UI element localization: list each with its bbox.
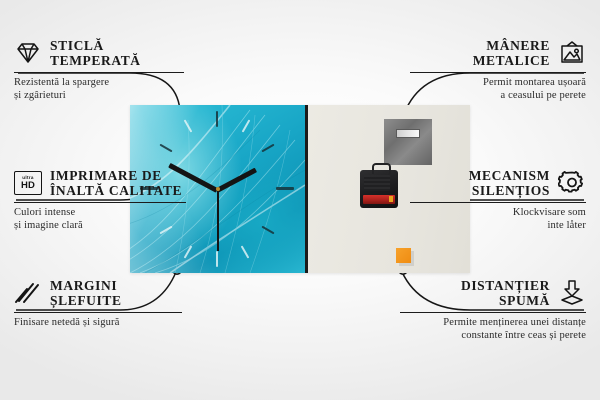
- callout-header: MARGINI ȘLEFUITE: [14, 278, 182, 308]
- callout-foam-spacer: DISTANȚIER SPUMĂ Permite menținerea unei…: [400, 278, 586, 342]
- callout-header: ultra HD IMPRIMARE DE ÎNALTĂ CALITATE: [14, 168, 186, 198]
- ultra-hd-icon-main-label: HD: [21, 181, 35, 191]
- callout-header: STICLĂ TEMPERATĂ: [14, 38, 184, 68]
- second-hand: [217, 189, 219, 251]
- callout-divider: [14, 202, 186, 203]
- callout-polished-edges: MARGINI ȘLEFUITE Finisare netedă și sigu…: [14, 278, 182, 330]
- tick-6: [216, 251, 218, 267]
- metal-hanger-plate: [384, 119, 432, 165]
- callout-divider: [14, 72, 184, 73]
- clock-mechanism: [360, 170, 398, 208]
- callout-header: MÂNERE METALICE: [410, 38, 586, 68]
- callout-silent-mechanism: MECANISM SILENȚIOS Klockvisare som inte …: [410, 168, 586, 232]
- battery-terminal: [389, 196, 393, 202]
- callout-divider: [410, 72, 586, 73]
- callout-divider: [410, 202, 586, 203]
- callout-sub-line1: Permit montarea ușoară: [410, 77, 586, 90]
- callout-divider: [14, 312, 182, 313]
- callout-header: MECANISM SILENȚIOS: [410, 168, 586, 198]
- gear-icon: [558, 170, 586, 196]
- callout-sub-line2: și zgârieturi: [14, 90, 184, 103]
- callout-sub-line2: a ceasului pe perete: [410, 90, 586, 103]
- callout-title-line2: SPUMĂ: [461, 293, 550, 308]
- callout-metal-handles: MÂNERE METALICE Permit montarea ușoară a…: [410, 38, 586, 102]
- tick-12: [216, 111, 218, 127]
- callout-title-line1: MÂNERE: [473, 38, 550, 53]
- callout-title-line2: ÎNALTĂ CALITATE: [50, 183, 182, 198]
- mechanism-body-detail: [364, 175, 390, 191]
- callout-title-line2: METALICE: [473, 53, 550, 68]
- callout-divider: [400, 312, 586, 313]
- callout-title-line1: STICLĂ: [50, 38, 141, 53]
- diagonal-stripes-icon: [14, 281, 42, 305]
- callout-sub-line1: Finisare netedă și sigură: [14, 317, 182, 330]
- callout-sub-line2: inte låter: [410, 220, 586, 233]
- callout-sub-line1: Rezistentă la spargere: [14, 77, 184, 90]
- callout-title-line2: ȘLEFUITE: [50, 293, 122, 308]
- callout-tempered-glass: STICLĂ TEMPERATĂ Rezistentă la spargere …: [14, 38, 184, 102]
- callout-header: DISTANȚIER SPUMĂ: [400, 278, 586, 308]
- tick-3: [276, 187, 294, 190]
- callout-title-line1: MECANISM: [469, 168, 550, 183]
- hanger-slot: [396, 129, 420, 138]
- callout-title-line1: DISTANȚIER: [461, 278, 550, 293]
- callout-sub-line2: constante între ceas și perete: [400, 330, 586, 343]
- framed-picture-icon: [558, 41, 586, 65]
- mechanism-hook: [372, 163, 391, 174]
- ultra-hd-icon: ultra HD: [14, 171, 42, 195]
- callout-title-line1: MARGINI: [50, 278, 122, 293]
- down-arrow-pad-icon: [558, 280, 586, 306]
- callout-title-line2: TEMPERATĂ: [50, 53, 141, 68]
- clock-center-cap: [216, 187, 220, 191]
- foam-spacer-pad: [396, 248, 411, 263]
- callout-title-line1: IMPRIMARE DE: [50, 168, 182, 183]
- battery: [363, 195, 395, 204]
- callout-sub-line1: Klockvisare som: [410, 207, 586, 220]
- callout-high-quality-print: ultra HD IMPRIMARE DE ÎNALTĂ CALITATE Cu…: [14, 168, 186, 232]
- diamond-icon: [14, 41, 42, 65]
- callout-sub-line1: Permite menținerea unei distanțe: [400, 317, 586, 330]
- callout-sub-line1: Culori intense: [14, 207, 186, 220]
- infographic-canvas: STICLĂ TEMPERATĂ Rezistentă la spargere …: [0, 0, 600, 400]
- callout-sub-line2: și imagine clară: [14, 220, 186, 233]
- callout-title-line2: SILENȚIOS: [469, 183, 550, 198]
